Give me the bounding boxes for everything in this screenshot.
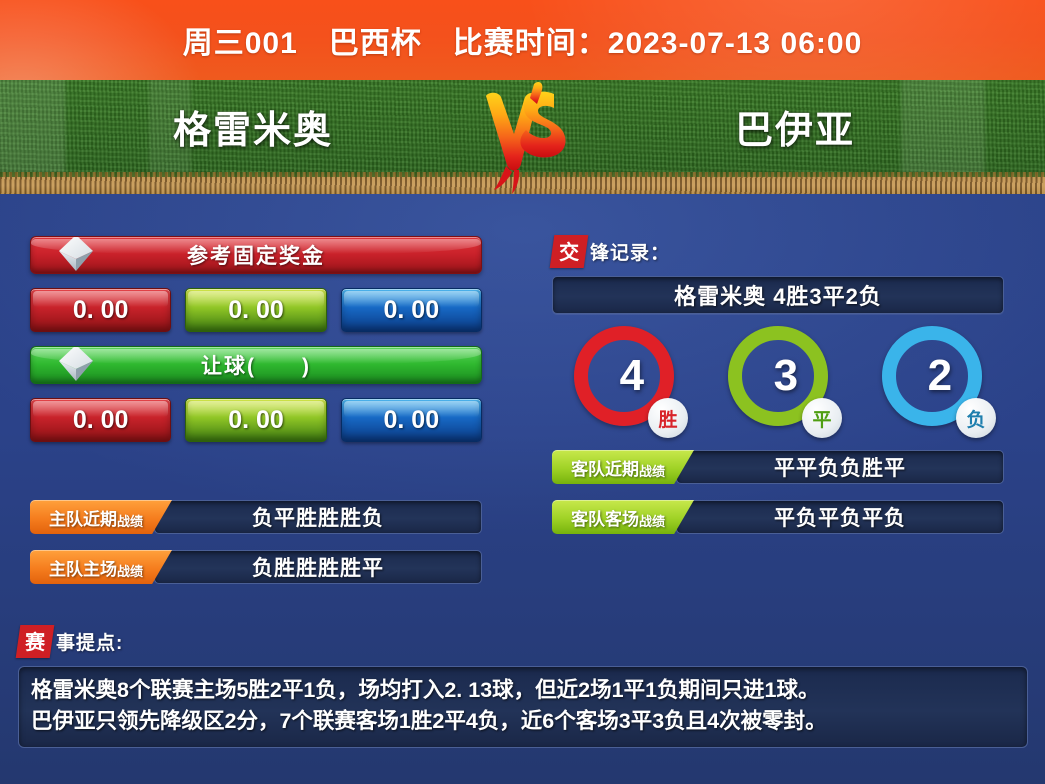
away-recent-form-tag: 客队近期 战绩 (552, 450, 694, 484)
home-recent-form-tag: 主队近期 战绩 (30, 500, 172, 534)
away-away-form-value: 平负平负平负 (676, 500, 1004, 534)
fixed-odds-header-label: 参考固定奖金 (187, 240, 325, 270)
diamond-gem-icon (53, 236, 99, 274)
match-notes-line: 格雷米奥8个联赛主场5胜2平1负，场均打入2. 13球，但近2场1平1负期间只进… (31, 675, 1017, 706)
ring-win-badge: 胜 (648, 398, 688, 438)
h2h-badge: 交 (550, 235, 589, 268)
h2h-rings: 4 胜 3 平 2 负 (552, 314, 1004, 450)
away-recent-form-tag-label: 客队近期 (571, 455, 639, 480)
page-header: 周三001 巴西杯 比赛时间：2023-07-13 06:00 (0, 0, 1045, 80)
h2h-title-label: 锋记录： (590, 238, 670, 265)
handicap-header-label: 让球( ) (201, 350, 311, 380)
h2h-ring-draw: 3 平 (728, 326, 828, 426)
handicap-odds-draw-value: 0. 00 (228, 406, 284, 435)
handicap-odds-away-value: 0. 00 (384, 406, 440, 435)
handicap-header: 让球( ) (30, 346, 482, 384)
h2h-badge-char: 交 (559, 236, 579, 265)
handicap-odds-away-button[interactable]: 0. 00 (341, 398, 482, 442)
ring-loss-badge: 负 (956, 398, 996, 438)
notes-badge-char: 赛 (25, 626, 45, 655)
h2h-summary: 格雷米奥 4胜3平2负 (552, 276, 1004, 314)
notes-title-label: 事提点: (56, 628, 123, 655)
away-recent-form-value: 平平负负胜平 (676, 450, 1004, 484)
h2h-ring-loss: 2 负 (882, 326, 982, 426)
ring-loss-value: 2 (928, 351, 952, 401)
home-home-form-tag: 主队主场 战绩 (30, 550, 172, 584)
handicap-odds-draw-button[interactable]: 0. 00 (185, 398, 326, 442)
diamond-gem-icon (53, 346, 99, 384)
handicap-odds-home-button[interactable]: 0. 00 (30, 398, 171, 442)
notes-badge: 赛 (16, 625, 55, 658)
home-home-form-tag-label: 主队主场 (49, 555, 117, 580)
match-notes: 赛 事提点: 格雷米奥8个联赛主场5胜2平1负，场均打入2. 13球，但近2场1… (18, 626, 1028, 748)
away-away-form-tag-suffix: 战绩 (639, 511, 665, 530)
fixed-odds-home-button[interactable]: 0. 00 (30, 288, 171, 332)
h2h-ring-win: 4 胜 (574, 326, 674, 426)
home-home-form-value: 负胜胜胜胜平 (154, 550, 482, 584)
home-recent-form-tag-suffix: 战绩 (117, 511, 143, 530)
page-title: 周三001 巴西杯 比赛时间：2023-07-13 06:00 (183, 18, 863, 62)
head-to-head-title: 交 锋记录： (552, 236, 1004, 266)
fixed-odds-row: 0. 00 0. 00 0. 00 (30, 288, 482, 332)
home-home-form-row: 主队主场 战绩 负胜胜胜胜平 (30, 550, 482, 584)
head-to-head-column: 交 锋记录： 格雷米奥 4胜3平2负 4 胜 3 平 2 负 (552, 236, 1004, 550)
ring-draw-badge: 平 (802, 398, 842, 438)
ring-win-value: 4 (620, 351, 644, 401)
handicap-odds-row: 0. 00 0. 00 0. 00 (30, 398, 482, 442)
fixed-odds-header: 参考固定奖金 (30, 236, 482, 274)
away-away-form-row: 客队客场 战绩 平负平负平负 (552, 500, 1004, 534)
home-recent-form-value: 负平胜胜胜负 (154, 500, 482, 534)
vs-icon (468, 78, 578, 196)
fixed-odds-away-button[interactable]: 0. 00 (341, 288, 482, 332)
away-team-name: 巴伊亚 (630, 95, 960, 157)
fixed-odds-draw-button[interactable]: 0. 00 (185, 288, 326, 332)
match-info-page: 周三001 巴西杯 比赛时间：2023-07-13 06:00 格雷米奥 巴伊亚 (0, 0, 1045, 784)
odds-column: 参考固定奖金 0. 00 0. 00 0. 00 让球( ) 0. 00 (30, 236, 482, 600)
away-recent-form-row: 客队近期 战绩 平平负负胜平 (552, 450, 1004, 484)
fixed-odds-home-value: 0. 00 (73, 296, 129, 325)
match-notes-title: 赛 事提点: (18, 626, 1028, 656)
fixed-odds-draw-value: 0. 00 (228, 296, 284, 325)
match-notes-line: 巴伊亚只领先降级区2分，7个联赛客场1胜2平4负，近6个客场3平3负且4次被零封… (31, 706, 1017, 737)
match-notes-box: 格雷米奥8个联赛主场5胜2平1负，场均打入2. 13球，但近2场1平1负期间只进… (18, 666, 1028, 748)
home-team-name: 格雷米奥 (88, 95, 418, 157)
ring-draw-value: 3 (774, 351, 798, 401)
home-home-form-tag-suffix: 战绩 (117, 561, 143, 580)
home-recent-form-tag-label: 主队近期 (49, 505, 117, 530)
away-recent-form-tag-suffix: 战绩 (639, 461, 665, 480)
home-recent-form-row: 主队近期 战绩 负平胜胜胜负 (30, 500, 482, 534)
handicap-odds-home-value: 0. 00 (73, 406, 129, 435)
away-away-form-tag: 客队客场 战绩 (552, 500, 694, 534)
away-away-form-tag-label: 客队客场 (571, 505, 639, 530)
fixed-odds-away-value: 0. 00 (384, 296, 440, 325)
